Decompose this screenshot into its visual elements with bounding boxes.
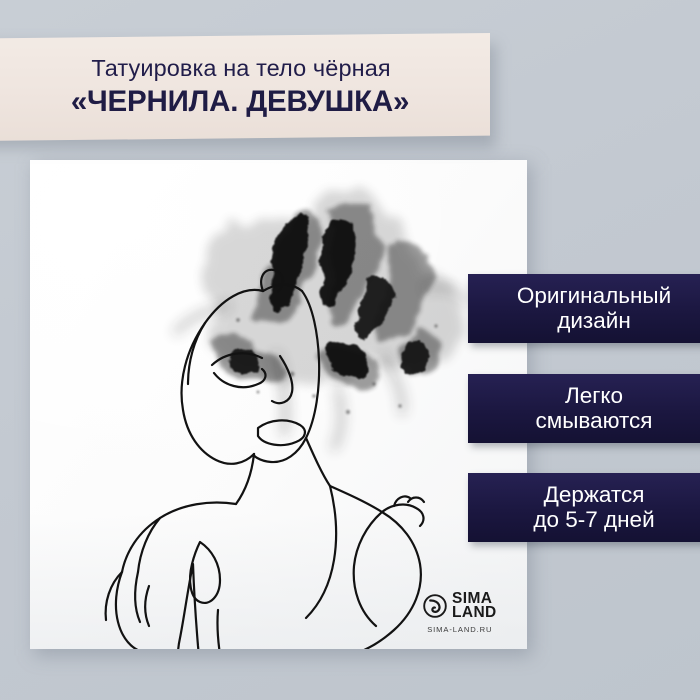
feature-badge-duration: Держатся до 5-7 дней	[468, 473, 700, 542]
badge-line-2: до 5-7 дней	[484, 507, 700, 532]
ink-splash-hair	[176, 193, 468, 448]
product-marketing-image: SIMA LAND SIMA-LAND.RU Татуировка на тел…	[0, 0, 700, 700]
banner-subtitle: Татуировка на тело чёрная	[91, 55, 390, 82]
badge-line-1: Оригинальный	[484, 283, 700, 308]
swan-bird-icon	[423, 594, 447, 618]
banner-title: «ЧЕРНИЛА. ДЕВУШКА»	[71, 85, 409, 119]
logo-word-bottom: LAND	[452, 606, 497, 620]
feature-badge-original-design: Оригинальный дизайн	[468, 274, 700, 343]
badge-line-2: смываются	[484, 408, 700, 433]
line-art-artwork	[30, 160, 527, 649]
badge-line-1: Легко	[484, 383, 700, 408]
product-title-banner: Татуировка на тело чёрная «ЧЕРНИЛА. ДЕВУ…	[0, 33, 490, 141]
logo-wordmark: SIMA LAND	[452, 592, 497, 621]
logo-url: SIMA-LAND.RU	[427, 625, 492, 634]
feature-badge-easy-wash-off: Легко смываются	[468, 374, 700, 443]
product-photo-card: SIMA LAND SIMA-LAND.RU	[30, 160, 527, 649]
sima-land-logo: SIMA LAND SIMA-LAND.RU	[423, 592, 497, 634]
badge-line-2: дизайн	[484, 308, 700, 333]
badge-line-1: Держатся	[484, 482, 700, 507]
logo-row: SIMA LAND	[423, 592, 497, 621]
